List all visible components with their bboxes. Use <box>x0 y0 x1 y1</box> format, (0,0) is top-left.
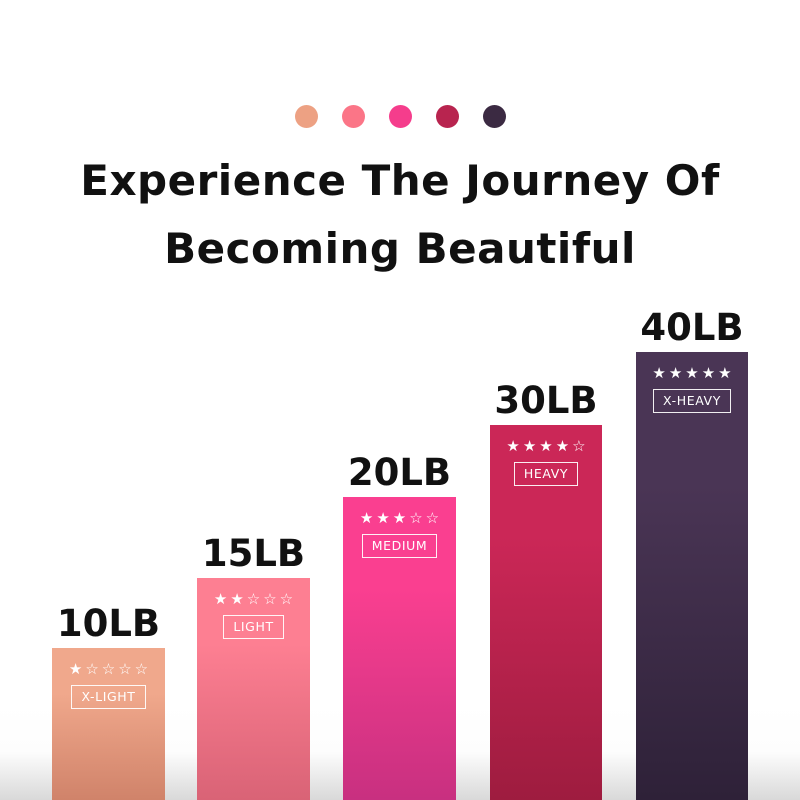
star-filled-icon: ★ <box>376 511 389 527</box>
bar-weight-label: 15LB <box>197 534 310 574</box>
star-filled-icon: ★ <box>702 366 715 382</box>
bar-group[interactable]: 20LB★★★☆☆MEDIUM <box>343 497 456 800</box>
star-filled-icon: ★ <box>393 511 406 527</box>
bar-weight-label: 40LB <box>636 308 748 348</box>
star-filled-icon: ★ <box>69 662 82 678</box>
resistance-level-badge: MEDIUM <box>362 534 438 558</box>
resistance-level-badge: X-LIGHT <box>71 685 145 709</box>
star-empty-icon: ☆ <box>85 662 98 678</box>
star-empty-icon: ☆ <box>247 592 260 608</box>
star-empty-icon: ☆ <box>280 592 293 608</box>
star-empty-icon: ☆ <box>409 511 422 527</box>
bar-group[interactable]: 10LB★☆☆☆☆X-LIGHT <box>52 648 165 800</box>
bar-content: ★★★★★X-HEAVY <box>636 366 748 413</box>
resistance-level-badge: HEAVY <box>514 462 578 486</box>
bar-content: ★☆☆☆☆X-LIGHT <box>52 662 165 709</box>
resistance-level-badge: X-HEAVY <box>653 389 731 413</box>
star-filled-icon: ★ <box>360 511 373 527</box>
star-empty-icon: ☆ <box>263 592 276 608</box>
star-filled-icon: ★ <box>685 366 698 382</box>
bar-column[interactable]: ★☆☆☆☆X-LIGHT <box>52 648 165 800</box>
bar-column[interactable]: ★★★★☆HEAVY <box>490 425 602 800</box>
bar-weight-label: 20LB <box>343 453 456 493</box>
star-filled-icon: ★ <box>556 439 569 455</box>
resistance-bar-chart: 10LB★☆☆☆☆X-LIGHT15LB★★☆☆☆LIGHT20LB★★★☆☆M… <box>0 0 800 800</box>
star-empty-icon: ☆ <box>135 662 148 678</box>
star-filled-icon: ★ <box>214 592 227 608</box>
bar-group[interactable]: 40LB★★★★★X-HEAVY <box>636 352 748 800</box>
rating-stars: ★★★★★ <box>652 366 731 382</box>
bar-column[interactable]: ★★☆☆☆LIGHT <box>197 578 310 800</box>
star-filled-icon: ★ <box>523 439 536 455</box>
rating-stars: ★★★★☆ <box>506 439 585 455</box>
star-filled-icon: ★ <box>669 366 682 382</box>
star-filled-icon: ★ <box>230 592 243 608</box>
rating-stars: ★☆☆☆☆ <box>69 662 148 678</box>
star-empty-icon: ☆ <box>102 662 115 678</box>
star-empty-icon: ☆ <box>572 439 585 455</box>
resistance-level-badge: LIGHT <box>223 615 283 639</box>
poster-canvas: Experience The Journey Of Becoming Beaut… <box>0 0 800 800</box>
star-filled-icon: ★ <box>506 439 519 455</box>
bar-weight-label: 30LB <box>490 381 602 421</box>
bar-weight-label: 10LB <box>52 604 165 644</box>
star-empty-icon: ☆ <box>118 662 131 678</box>
rating-stars: ★★☆☆☆ <box>214 592 293 608</box>
bar-content: ★★☆☆☆LIGHT <box>197 592 310 639</box>
rating-stars: ★★★☆☆ <box>360 511 439 527</box>
star-filled-icon: ★ <box>539 439 552 455</box>
bar-content: ★★★★☆HEAVY <box>490 439 602 486</box>
bar-group[interactable]: 30LB★★★★☆HEAVY <box>490 425 602 800</box>
bar-column[interactable]: ★★★☆☆MEDIUM <box>343 497 456 800</box>
star-empty-icon: ☆ <box>426 511 439 527</box>
bar-group[interactable]: 15LB★★☆☆☆LIGHT <box>197 578 310 800</box>
star-filled-icon: ★ <box>718 366 731 382</box>
bar-column[interactable]: ★★★★★X-HEAVY <box>636 352 748 800</box>
star-filled-icon: ★ <box>652 366 665 382</box>
bar-content: ★★★☆☆MEDIUM <box>343 511 456 558</box>
